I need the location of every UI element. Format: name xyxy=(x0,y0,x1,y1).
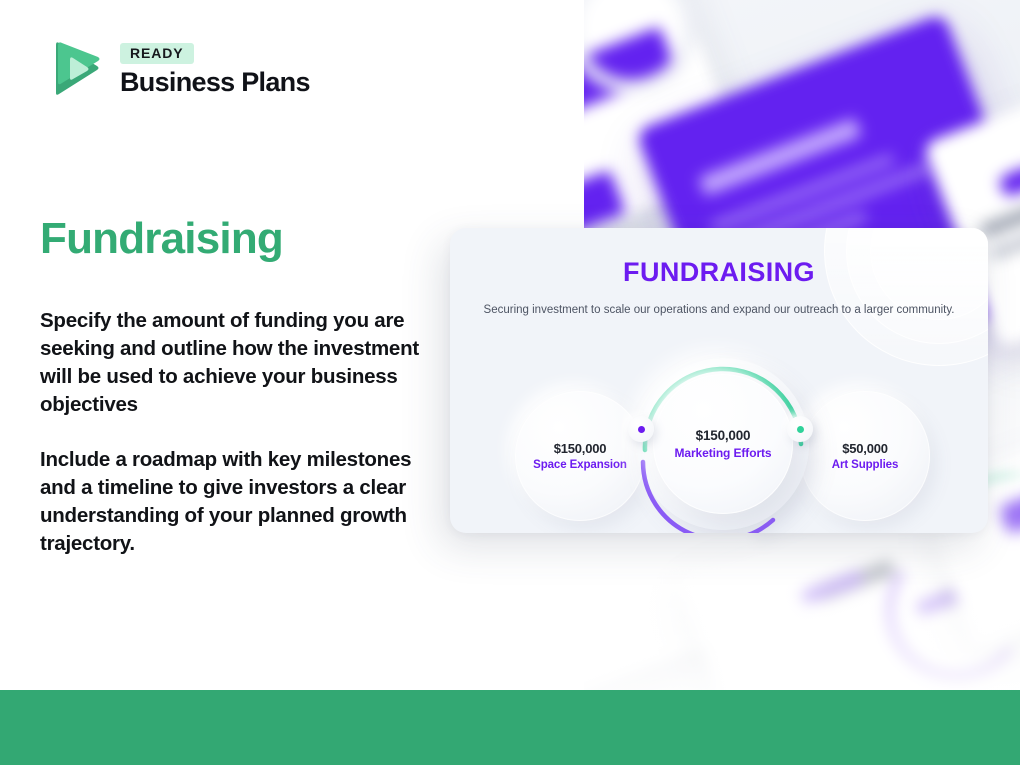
left-connector-dot xyxy=(628,416,654,442)
funding-label: Marketing Efforts xyxy=(675,446,772,460)
footer-bar xyxy=(0,690,1020,765)
funding-amount: $150,000 xyxy=(554,441,607,456)
right-connector-dot xyxy=(787,416,813,442)
fundraising-slide-card[interactable]: FUNDRAISING Securing investment to scale… xyxy=(450,228,988,533)
slide-title: FUNDRAISING xyxy=(450,257,988,288)
page-title: Fundraising xyxy=(40,215,283,263)
funding-bubble-art-supplies[interactable]: $50,000 Art Supplies xyxy=(800,391,930,521)
ready-badge: READY xyxy=(120,43,194,64)
play-triangles-logo-icon xyxy=(40,38,102,100)
body-paragraph-1: Specify the amount of funding you are se… xyxy=(40,307,420,419)
funding-amount: $50,000 xyxy=(842,441,888,456)
funding-diagram: $150,000 Space Expansion $150,000 Market… xyxy=(450,334,988,524)
slide-subtitle: Securing investment to scale our operati… xyxy=(450,302,988,318)
brand-logo[interactable]: READY Business Plans xyxy=(40,38,310,100)
funding-label: Art Supplies xyxy=(832,459,899,471)
funding-label: Space Expansion xyxy=(533,459,627,471)
funding-amount: $150,000 xyxy=(696,428,751,443)
funding-bubble-space-expansion[interactable]: $150,000 Space Expansion xyxy=(515,391,645,521)
brand-name: Business Plans xyxy=(120,69,310,96)
body-paragraph-2: Include a roadmap with key milestones an… xyxy=(40,446,420,558)
funding-bubble-marketing-efforts[interactable]: $150,000 Marketing Efforts xyxy=(653,374,793,514)
